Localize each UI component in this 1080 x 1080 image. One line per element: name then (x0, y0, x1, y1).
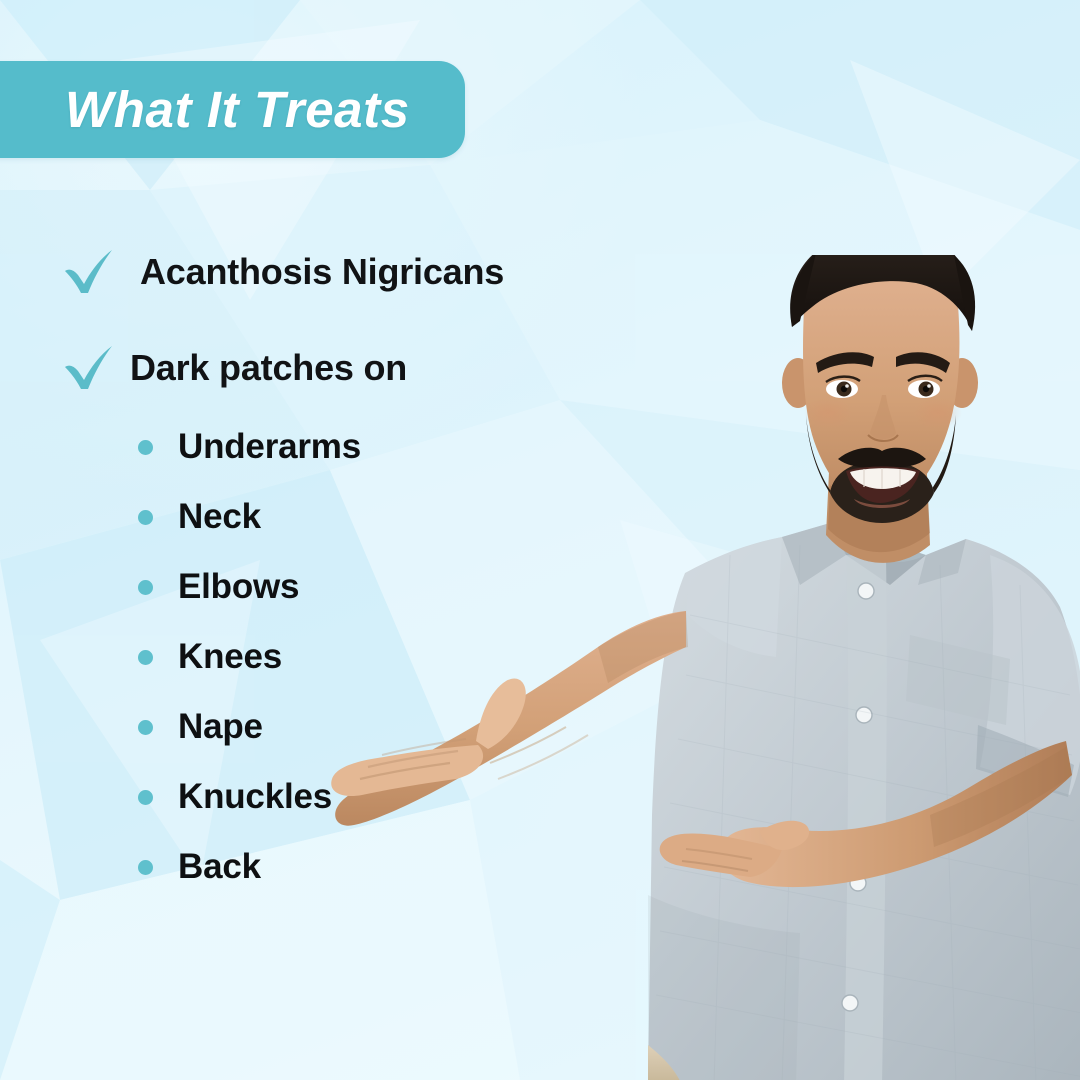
bullet-dot-icon (138, 720, 153, 735)
bullet-dot-icon (138, 650, 153, 665)
list-item: Knuckles (138, 762, 608, 832)
list-item: Acanthosis Nigricans (60, 224, 620, 320)
bullet-item-label: Knees (178, 637, 282, 677)
list-item: Dark patches on (60, 320, 620, 416)
check-icon (60, 339, 118, 397)
check-item-label: Dark patches on (130, 347, 407, 389)
bullet-dot-icon (138, 790, 153, 805)
list-item: Underarms (138, 412, 608, 482)
bullet-dot-icon (138, 860, 153, 875)
check-item-label: Acanthosis Nigricans (140, 251, 504, 293)
bullet-item-label: Back (178, 847, 261, 887)
poster-canvas: What It Treats Acanthosis Nigricans Dark… (0, 0, 1080, 1080)
bullet-item-label: Underarms (178, 427, 361, 467)
bullet-dot-icon (138, 510, 153, 525)
bullet-item-label: Nape (178, 707, 263, 747)
bullet-list: Underarms Neck Elbows Knees Nape Knuckle… (138, 412, 608, 902)
section-banner: What It Treats (0, 61, 465, 158)
check-icon (60, 243, 118, 301)
bullet-item-label: Elbows (178, 567, 299, 607)
bullet-item-label: Neck (178, 497, 261, 537)
list-item: Nape (138, 692, 608, 762)
bullet-dot-icon (138, 580, 153, 595)
list-item: Knees (138, 622, 608, 692)
check-list: Acanthosis Nigricans Dark patches on (60, 224, 620, 416)
list-item: Back (138, 832, 608, 902)
list-item: Neck (138, 482, 608, 552)
list-item: Elbows (138, 552, 608, 622)
bullet-item-label: Knuckles (178, 777, 332, 817)
bullet-dot-icon (138, 440, 153, 455)
page-title: What It Treats (65, 84, 410, 135)
